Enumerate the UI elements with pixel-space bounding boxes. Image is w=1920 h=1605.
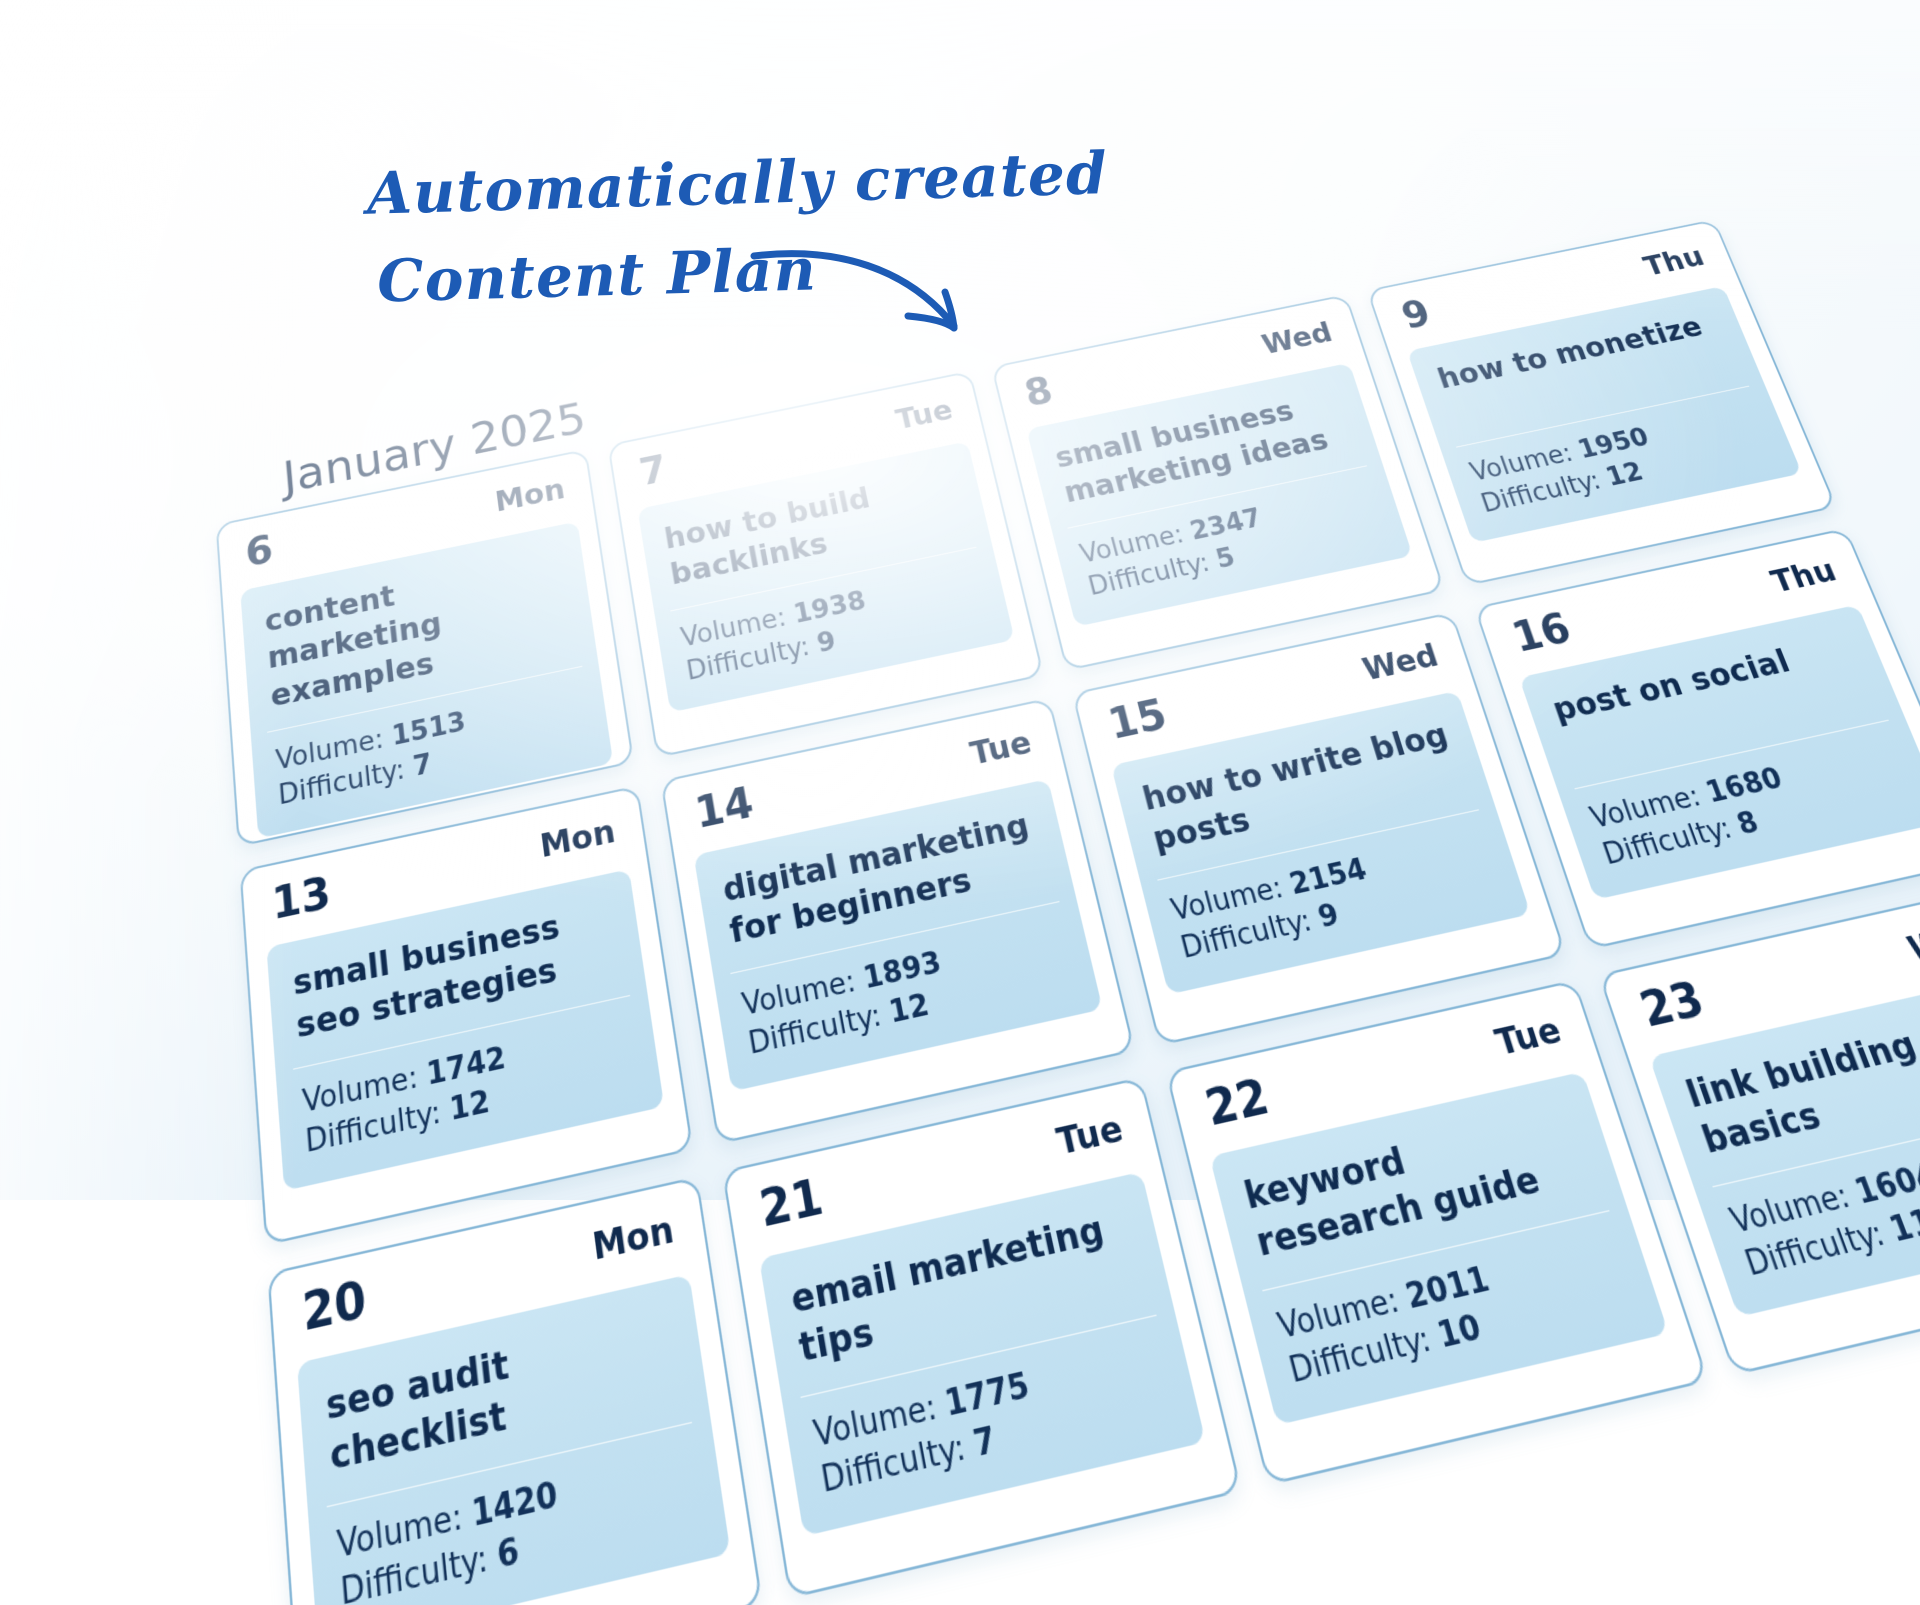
day-number: 23 [1635, 976, 1710, 1035]
day-number: 9 [1398, 296, 1435, 335]
keyword-divider [1157, 809, 1479, 880]
day-number: 7 [637, 451, 670, 492]
day-weekday: Thu [1640, 244, 1708, 281]
metric-volume: Volume: 2154 [1168, 826, 1490, 931]
keyword-card[interactable]: link building basicsVolume: 1604Difficul… [1649, 974, 1920, 1316]
day-weekday: Wed [1359, 641, 1442, 686]
day-number: 13 [270, 872, 332, 927]
difficulty-label: Difficulty: [1177, 904, 1315, 966]
volume-label: Volume: [740, 965, 859, 1023]
keyword-metrics: Volume: 1513Difficulty: 7 [274, 682, 588, 815]
metric-difficulty: Difficulty: 12 [746, 956, 1075, 1065]
calendar-day-cell[interactable]: 14Tuedigital marketing for beginnersVolu… [660, 698, 1135, 1145]
keyword-divider [1712, 1108, 1920, 1187]
metric-difficulty: Difficulty: 8 [1598, 771, 1918, 874]
difficulty-value: 11 [1885, 1203, 1920, 1250]
metric-volume: Volume: 1680 [1586, 736, 1903, 838]
difficulty-value: 7 [970, 1421, 999, 1466]
difficulty-label: Difficulty: [684, 632, 812, 687]
day-weekday: Tue [968, 728, 1035, 771]
metric-volume: Volume: 1742 [301, 1013, 632, 1123]
difficulty-value: 10 [1434, 1308, 1486, 1356]
difficulty-value: 7 [412, 749, 434, 783]
volume-label: Volume: [275, 724, 386, 777]
calendar-day-cell[interactable]: 15Wedhow to write blog postsVolume: 2154… [1072, 612, 1567, 1046]
day-weekday: Tue [1054, 1112, 1127, 1162]
keyword-title: post on social [1548, 629, 1877, 773]
difficulty-value: 6 [495, 1531, 521, 1577]
keyword-card[interactable]: digital marketing for beginnersVolume: 1… [694, 779, 1103, 1091]
keyword-metrics: Volume: 2154Difficulty: 9 [1168, 826, 1502, 968]
calendar-day-cell[interactable]: 20Monseo audit checklistVolume: 1420Diff… [267, 1176, 763, 1605]
difficulty-value: 12 [886, 988, 931, 1030]
keyword-card[interactable]: small business seo strategiesVolume: 174… [266, 869, 664, 1190]
difficulty-value: 12 [448, 1084, 492, 1128]
day-weekday: Thu [1768, 556, 1841, 598]
metric-difficulty: Difficulty: 9 [684, 594, 989, 689]
volume-value: 2154 [1286, 853, 1370, 902]
metric-volume: Volume: 1513 [274, 682, 583, 780]
day-weekday: Wed [1259, 320, 1336, 360]
calendar-day-cell[interactable]: 22Tuekeyword research guideVolume: 2011D… [1165, 980, 1709, 1486]
volume-value: 1893 [861, 946, 945, 996]
day-cell-header: 23Wed [1601, 887, 1920, 1061]
keyword-card[interactable]: how to write blog postsVolume: 2154Diffi… [1111, 691, 1531, 994]
difficulty-label: Difficulty: [304, 1095, 442, 1160]
day-number: 22 [1201, 1073, 1274, 1134]
keyword-card[interactable]: keyword research guideVolume: 2011Diffic… [1209, 1072, 1668, 1425]
volume-label: Volume: [679, 603, 789, 654]
keyword-metrics: Volume: 1680Difficulty: 8 [1586, 736, 1918, 874]
day-cell-header: 16Thu [1476, 530, 1875, 681]
curved-arrow-icon [740, 230, 1160, 430]
day-number: 16 [1508, 608, 1577, 659]
day-weekday: Mon [590, 1212, 676, 1267]
volume-label: Volume: [1586, 780, 1705, 835]
difficulty-value: 9 [1315, 898, 1343, 935]
keyword-title: link building basics [1681, 1002, 1920, 1168]
day-number: 15 [1104, 694, 1171, 746]
day-number: 21 [757, 1173, 827, 1236]
annotation-arrow [740, 230, 1160, 430]
keyword-divider [1574, 720, 1888, 790]
volume-value: 1742 [425, 1041, 508, 1093]
difficulty-label: Difficulty: [1599, 812, 1737, 872]
day-weekday: Tue [1492, 1013, 1566, 1062]
volume-value: 1604 [1850, 1157, 1920, 1212]
keyword-title: how to write blog posts [1139, 716, 1468, 863]
day-number: 14 [692, 782, 756, 836]
calendar-day-cell[interactable]: 13Monsmall business seo strategiesVolume… [239, 785, 693, 1245]
day-cell-header: 22Tue [1168, 982, 1602, 1160]
difficulty-label: Difficulty: [277, 754, 406, 811]
day-cell-header: 15Wed [1074, 614, 1475, 769]
difficulty-value: 8 [1733, 806, 1764, 842]
day-number: 20 [301, 1275, 369, 1339]
volume-value: 1938 [791, 586, 868, 630]
day-weekday: Mon [538, 816, 617, 863]
difficulty-label: Difficulty: [746, 998, 884, 1061]
difficulty-value: 12 [1602, 457, 1647, 492]
day-cell-header: 13Mon [242, 788, 648, 952]
volume-label: Volume: [1168, 871, 1287, 928]
metric-difficulty: Difficulty: 9 [1177, 862, 1501, 968]
day-cell-header: 14Tue [663, 700, 1067, 859]
volume-label: Volume: [1077, 520, 1187, 570]
keyword-metrics: Volume: 1893Difficulty: 12 [739, 919, 1074, 1065]
keyword-metrics: Volume: 1742Difficulty: 12 [301, 1013, 637, 1163]
metric-difficulty: Difficulty: 12 [304, 1052, 637, 1164]
difficulty-value: 9 [815, 626, 839, 659]
keyword-divider [730, 901, 1059, 974]
metric-difficulty: Difficulty: 7 [277, 715, 588, 814]
calendar-day-cell[interactable]: 21Tueemail marketing tipsVolume: 1775Dif… [722, 1077, 1242, 1599]
keyword-title: digital marketing for beginners [720, 805, 1050, 957]
volume-label: Volume: [301, 1060, 419, 1120]
keyword-card[interactable]: post on socialVolume: 1680Difficulty: 8 [1519, 605, 1920, 900]
day-weekday: Mon [493, 476, 566, 517]
keyword-metrics: Volume: 1604Difficulty: 11 [1725, 1128, 1920, 1288]
volume-value: 1513 [390, 707, 467, 752]
keyword-divider [267, 666, 582, 733]
metric-volume: Volume: 1893 [739, 919, 1065, 1027]
difficulty-value: 5 [1213, 543, 1239, 575]
keyword-divider [293, 995, 630, 1070]
day-weekday: Wed [1903, 918, 1920, 969]
day-number: 6 [244, 531, 274, 574]
volume-value: 1680 [1702, 762, 1787, 809]
calendar-day-cell[interactable]: 16Thupost on socialVolume: 1680Difficult… [1474, 528, 1920, 950]
keyword-title: small business seo strategies [292, 895, 622, 1051]
